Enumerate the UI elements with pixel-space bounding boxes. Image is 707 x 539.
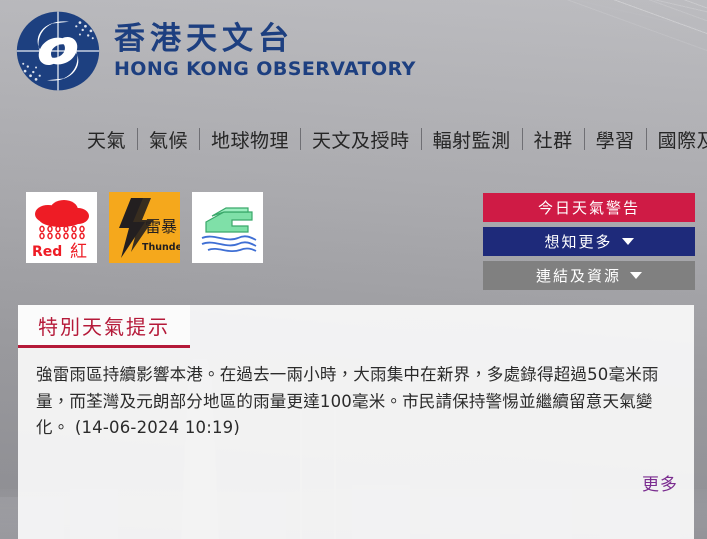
site-logo-text: 香港天文台 HONG KONG OBSERVATORY [114, 24, 416, 79]
active-warnings-group: Red 紅 雷暴 Thunderstorm [26, 192, 263, 263]
nav-item-international-regional[interactable]: 國際及區域 [647, 126, 707, 153]
primary-navigation[interactable]: 天氣 氣候 地球物理 天文及授時 輻射監測 社群 學習 國際及區域 [0, 119, 707, 159]
nav-item-weather[interactable]: 天氣 [76, 126, 137, 153]
tab-label: 特別天氣提示 [38, 311, 170, 340]
thunderstorm-label-en: Thunderstorm [142, 242, 180, 253]
flooding-northern-new-territories-icon[interactable] [192, 192, 263, 263]
want-to-know-more-label: 想知更多 [544, 231, 612, 252]
rainstorm-label-en: Red [32, 244, 62, 260]
site-logo[interactable]: 香港天文台 HONG KONG OBSERVATORY [12, 8, 416, 94]
site-title-english: HONG KONG OBSERVATORY [114, 60, 416, 79]
nav-item-climate[interactable]: 氣候 [138, 126, 199, 153]
rainstorm-label-zh: 紅 [70, 242, 87, 262]
today-weather-warning-label: 今日天氣警告 [538, 197, 640, 218]
nav-item-learning[interactable]: 學習 [585, 126, 646, 153]
nav-item-community[interactable]: 社群 [523, 126, 584, 153]
nav-item-astronomy-time[interactable]: 天文及授時 [301, 126, 421, 153]
site-header: 香港天文台 HONG KONG OBSERVATORY [0, 0, 707, 110]
tab-strip-remainder [190, 345, 694, 348]
quick-links-button-stack: 今日天氣警告 想知更多 連結及資源 [483, 193, 695, 290]
chevron-down-icon [622, 238, 634, 245]
hko-swirl-logo-icon [12, 8, 104, 94]
tab-special-weather-tips[interactable]: 特別天氣提示 [18, 305, 190, 348]
special-weather-tips-panel: 特別天氣提示 強雷雨區持續影響本港。在過去一兩小時，大雨集中在新界，多處錄得超過… [18, 305, 694, 539]
links-and-resources-label: 連結及資源 [536, 265, 621, 286]
today-weather-warning-button[interactable]: 今日天氣警告 [483, 193, 695, 222]
chevron-down-icon [630, 272, 642, 279]
thunderstorm-warning-icon[interactable]: 雷暴 Thunderstorm [109, 192, 180, 263]
nav-item-geophysics[interactable]: 地球物理 [200, 126, 300, 153]
red-rainstorm-warning-icon[interactable]: Red 紅 [26, 192, 97, 263]
want-to-know-more-button[interactable]: 想知更多 [483, 227, 695, 256]
site-title-chinese: 香港天文台 [114, 24, 416, 55]
links-and-resources-button[interactable]: 連結及資源 [483, 261, 695, 290]
special-weather-tips-text: 強雷雨區持續影響本港。在過去一兩小時，大雨集中在新界，多處錄得超過50毫米雨量，… [36, 362, 684, 442]
more-link[interactable]: 更多 [642, 470, 678, 495]
nav-item-radiation[interactable]: 輻射監測 [422, 126, 522, 153]
thunderstorm-label-zh: 雷暴 [145, 217, 177, 236]
